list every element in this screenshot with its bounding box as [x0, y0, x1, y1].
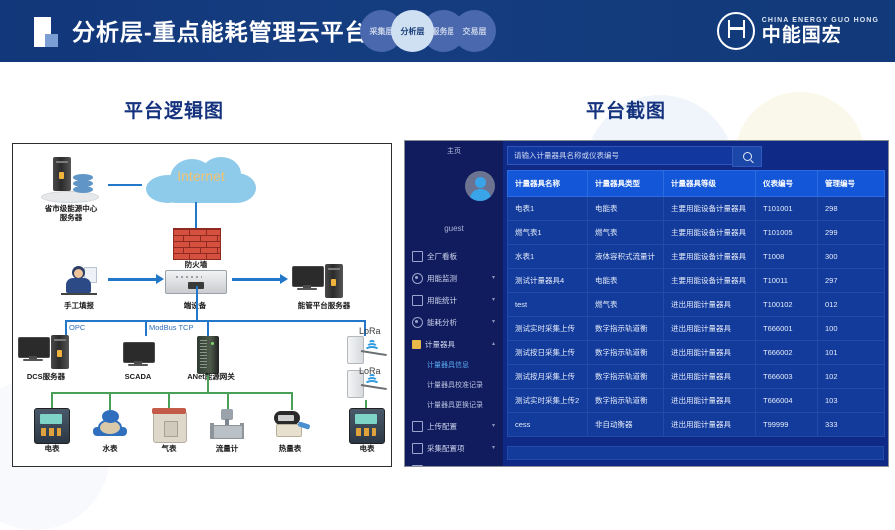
analysis-icon	[412, 317, 423, 328]
meter-drop-4	[227, 392, 229, 410]
sidebar-item-log-info[interactable]: 日志信息 ▾	[405, 459, 503, 467]
sidebar-username: guest	[405, 224, 503, 233]
meter-gas-label: 气表	[144, 444, 194, 453]
cell-meter-no: T101005	[756, 221, 818, 245]
arrow-manual-to-edge	[108, 278, 158, 281]
page-title: 分析层-重点能耗管理云平台	[72, 13, 369, 47]
monitor-icon	[412, 273, 423, 284]
sidebar-item-upload-config[interactable]: 上传配置 ▾	[405, 415, 503, 437]
cell-grade: 主要用能设备计量器具	[664, 269, 756, 293]
center-server-label: 省市级能源中心 服务器	[33, 204, 109, 223]
app-sidebar: 主页 guest 全厂看板 用能监测 ▾ 用能统计 ▾ 能耗分析 ▾	[405, 141, 503, 466]
cell-meter-no: T666004	[756, 389, 818, 413]
company-name-en: CHINA ENERGY GUO HONG	[762, 17, 879, 24]
cell-type: 数字指示轨道衡	[588, 317, 664, 341]
meter-gas-icon	[153, 411, 187, 443]
scada-monitor-icon	[123, 342, 153, 366]
table-header-row: 计量器具名称 计量器具类型 计量器具等级 仪表编号 管理编号	[508, 171, 885, 197]
search-placeholder: 请输入计量器具名称或仪表编号	[508, 150, 619, 161]
cell-meter-no: T99999	[756, 413, 818, 437]
anet-gateway-label: ANet能源网关	[176, 372, 246, 381]
bus-drop-gateway	[207, 320, 209, 336]
company-logo-icon	[717, 12, 755, 50]
table-row[interactable]: 测试按日采集上传 数字指示轨道衡 进出用能计量器具 T666002 101	[508, 341, 885, 365]
cell-type: 燃气表	[588, 293, 664, 317]
cell-grade: 主要用能设备计量器具	[664, 245, 756, 269]
cell-grade: 主要用能设备计量器具	[664, 221, 756, 245]
search-button[interactable]	[732, 146, 762, 167]
meter-water-label: 水表	[85, 444, 135, 453]
cell-name: 电表1	[508, 197, 588, 221]
cell-mgmt-no: 300	[818, 245, 885, 269]
section-title-logic-diagram: 平台逻辑图	[124, 96, 224, 123]
sidebar-item-monitor[interactable]: 用能监测 ▾	[405, 267, 503, 289]
cell-grade: 进出用能计量器具	[664, 341, 756, 365]
cell-mgmt-no: 299	[818, 221, 885, 245]
table-row[interactable]: 测试实时采集上传 数字指示轨道衡 进出用能计量器具 T666001 100	[508, 317, 885, 341]
cell-name: cess	[508, 413, 588, 437]
chevron-down-icon: ▾	[492, 275, 495, 281]
cell-name: test	[508, 293, 588, 317]
app-logo-icon	[34, 17, 64, 47]
cell-grade: 进出用能计量器具	[664, 293, 756, 317]
cell-mgmt-no: 101	[818, 341, 885, 365]
manual-entry-label: 手工填报	[54, 301, 104, 310]
meter-elec-1-label: 电表	[27, 444, 77, 453]
cell-name: 测试按月采集上传	[508, 365, 588, 389]
cell-meter-no: T666003	[756, 365, 818, 389]
cell-meter-no: T100102	[756, 293, 818, 317]
search-icon	[743, 152, 752, 161]
cell-name: 测试实时采集上传2	[508, 389, 588, 413]
layer-badge-trade[interactable]: 交易层	[453, 10, 496, 52]
internet-label: Internet	[146, 168, 256, 184]
dashboard-icon	[412, 251, 423, 262]
meter-drop-2	[109, 392, 111, 410]
cell-type: 数字指示轨道衡	[588, 341, 664, 365]
center-server-icon	[53, 157, 71, 191]
platform-server-icon	[325, 264, 343, 298]
table-row[interactable]: 测试按月采集上传 数字指示轨道衡 进出用能计量器具 T666003 102	[508, 365, 885, 389]
cell-grade: 进出用能计量器具	[664, 317, 756, 341]
sidebar-menu: 全厂看板 用能监测 ▾ 用能统计 ▾ 能耗分析 ▾ 计量器具 ▴	[405, 245, 503, 467]
sidebar-item-dashboard[interactable]: 全厂看板	[405, 245, 503, 267]
cell-name: 水表1	[508, 245, 588, 269]
meter-water-icon	[93, 410, 127, 440]
col-header-type[interactable]: 计量器具类型	[588, 171, 664, 197]
cell-mgmt-no: 012	[818, 293, 885, 317]
lora-node-1-icon	[347, 336, 389, 366]
table-row[interactable]: 测试实时采集上传2 数字指示轨道衡 进出用能计量器具 T666004 103	[508, 389, 885, 413]
sidebar-item-collect-config[interactable]: 采集配置项 ▾	[405, 437, 503, 459]
layer-badge-analysis[interactable]: 分析层	[391, 10, 434, 52]
meter-icon	[412, 340, 421, 349]
cell-name: 测试按日采集上传	[508, 341, 588, 365]
cell-type: 电能表	[588, 197, 664, 221]
bus-drop-center	[196, 286, 198, 320]
cell-type: 数字指示轨道衡	[588, 389, 664, 413]
arrow-edge-to-platform	[232, 278, 282, 281]
chevron-down-icon: ▾	[492, 445, 495, 451]
page-header: 分析层-重点能耗管理云平台 采集层 服务层 交易层 分析层 CHINA ENER…	[0, 0, 895, 62]
meter-flow-label: 流量计	[202, 444, 252, 453]
bus-drop-dcs	[65, 320, 67, 336]
sidebar-item-measuring-instruments[interactable]: 计量器具 ▴	[405, 333, 503, 355]
scada-label: SCADA	[113, 372, 163, 381]
cell-meter-no: T10011	[756, 269, 818, 293]
table-footer	[507, 446, 884, 460]
instruments-table: 计量器具名称 计量器具类型 计量器具等级 仪表编号 管理编号 电表1 电能表 主…	[507, 170, 885, 437]
search-input[interactable]: 请输入计量器具名称或仪表编号	[507, 146, 734, 165]
database-icon	[73, 174, 93, 196]
bus-horizontal	[65, 320, 365, 322]
cell-grade: 进出用能计量器具	[664, 413, 756, 437]
cell-type: 电能表	[588, 269, 664, 293]
col-header-grade[interactable]: 计量器具等级	[664, 171, 756, 197]
cell-mgmt-no: 298	[818, 197, 885, 221]
cell-grade: 进出用能计量器具	[664, 365, 756, 389]
chevron-down-icon: ▾	[492, 297, 495, 303]
dcs-server-label: DCS服务器	[15, 372, 77, 381]
table-row[interactable]: 水表1 液体容积式流量计 主要用能设备计量器具 T1008 300	[508, 245, 885, 269]
table-row[interactable]: 电表1 电能表 主要用能设备计量器具 T101001 298	[508, 197, 885, 221]
sidebar-item-analysis[interactable]: 能耗分析 ▾	[405, 311, 503, 333]
collect-icon	[412, 443, 423, 454]
gw-drop	[207, 375, 209, 393]
meter-elec-1-icon	[34, 408, 70, 444]
cell-grade: 进出用能计量器具	[664, 389, 756, 413]
chevron-down-icon: ▾	[492, 423, 495, 429]
cell-name: 测试计量器具4	[508, 269, 588, 293]
arrowhead-edge-platform	[280, 274, 288, 284]
firewall-icon	[173, 228, 221, 260]
platform-logic-diagram: Internet 省市级能源中心 服务器 防火墙 手工填报 端设备	[12, 143, 392, 467]
cell-meter-no: T666001	[756, 317, 818, 341]
sidebar-subitem-instrument-info[interactable]: 计量器具信息	[405, 355, 503, 375]
stats-icon	[412, 295, 423, 306]
cell-name: 测试实时采集上传	[508, 317, 588, 341]
protocol-label-opc: OPC	[69, 323, 85, 332]
platform-server-label: 能管平台服务器	[287, 301, 361, 310]
table-row[interactable]: 燃气表1 燃气表 主要用能设备计量器具 T101005 299	[508, 221, 885, 245]
firewall-label: 防火墙	[171, 260, 221, 269]
meter-heat-icon	[272, 411, 310, 441]
manual-entry-icon	[59, 266, 99, 298]
col-header-meter-no[interactable]: 仪表编号	[756, 171, 818, 197]
cell-grade: 主要用能设备计量器具	[664, 197, 756, 221]
cell-mgmt-no: 333	[818, 413, 885, 437]
lora-label-2: LoRa	[359, 366, 381, 376]
bus-drop-scada	[145, 320, 147, 336]
meter-bus-horizontal	[51, 392, 293, 394]
link-server-internet	[108, 184, 142, 186]
company-name-cn: 中能国宏	[762, 26, 879, 45]
cell-mgmt-no: 103	[818, 389, 885, 413]
upload-icon	[412, 421, 423, 432]
arrowhead-manual-edge	[156, 274, 164, 284]
chevron-up-icon: ▴	[492, 341, 495, 347]
cell-mgmt-no: 102	[818, 365, 885, 389]
platform-screenshot: 主页 guest 全厂看板 用能监测 ▾ 用能统计 ▾ 能耗分析 ▾	[404, 140, 889, 467]
cell-type: 数字指示轨道衡	[588, 365, 664, 389]
meter-elec-2-icon	[349, 408, 385, 444]
cell-type: 非自动衡器	[588, 413, 664, 437]
sidebar-item-stats[interactable]: 用能统计 ▾	[405, 289, 503, 311]
company-brand: CHINA ENERGY GUO HONG 中能国宏	[717, 12, 879, 50]
col-header-mgmt-no[interactable]: 管理编号	[818, 171, 885, 197]
meter-flow-icon	[210, 409, 244, 441]
meter-drop-5	[291, 392, 293, 410]
protocol-label-modbus: ModBus TCP	[149, 323, 193, 332]
link-internet-firewall	[195, 202, 197, 228]
lora-label-1: LoRa	[359, 326, 381, 336]
edge-device-label: 端设备	[170, 301, 220, 310]
sidebar-subitem-calibration-records[interactable]: 计量器具校准记录	[405, 375, 503, 395]
table-row[interactable]: cess 非自动衡器 进出用能计量器具 T99999 333	[508, 413, 885, 437]
meter-heat-label: 热量表	[265, 444, 315, 453]
avatar[interactable]	[465, 171, 495, 201]
sidebar-subitem-replacement-records[interactable]: 计量器具更换记录	[405, 395, 503, 415]
log-icon	[412, 465, 423, 468]
section-title-screenshot: 平台截图	[586, 96, 666, 123]
cell-type: 液体容积式流量计	[588, 245, 664, 269]
app-content: 请输入计量器具名称或仪表编号 计量器具名称 计量器具类型 计量器具等级 仪表编号…	[503, 141, 888, 466]
dcs-monitor-icon	[18, 337, 48, 361]
meter-elec-2-label: 电表	[342, 444, 392, 453]
cell-meter-no: T1008	[756, 245, 818, 269]
sidebar-home-label[interactable]: 主页	[405, 146, 503, 156]
table-row[interactable]: test 燃气表 进出用能计量器具 T100102 012	[508, 293, 885, 317]
layer-badge-group: 采集层 服务层 交易层 分析层	[360, 10, 505, 52]
cell-meter-no: T101001	[756, 197, 818, 221]
cell-name: 燃气表1	[508, 221, 588, 245]
table-row[interactable]: 测试计量器具4 电能表 主要用能设备计量器具 T10011 297	[508, 269, 885, 293]
chevron-down-icon: ▾	[492, 319, 495, 325]
cell-mgmt-no: 100	[818, 317, 885, 341]
platform-monitor-icon	[292, 266, 322, 290]
anet-gateway-icon	[197, 336, 219, 374]
col-header-name[interactable]: 计量器具名称	[508, 171, 588, 197]
cell-type: 燃气表	[588, 221, 664, 245]
cell-meter-no: T666002	[756, 341, 818, 365]
cell-mgmt-no: 297	[818, 269, 885, 293]
dcs-server-icon	[51, 335, 69, 369]
